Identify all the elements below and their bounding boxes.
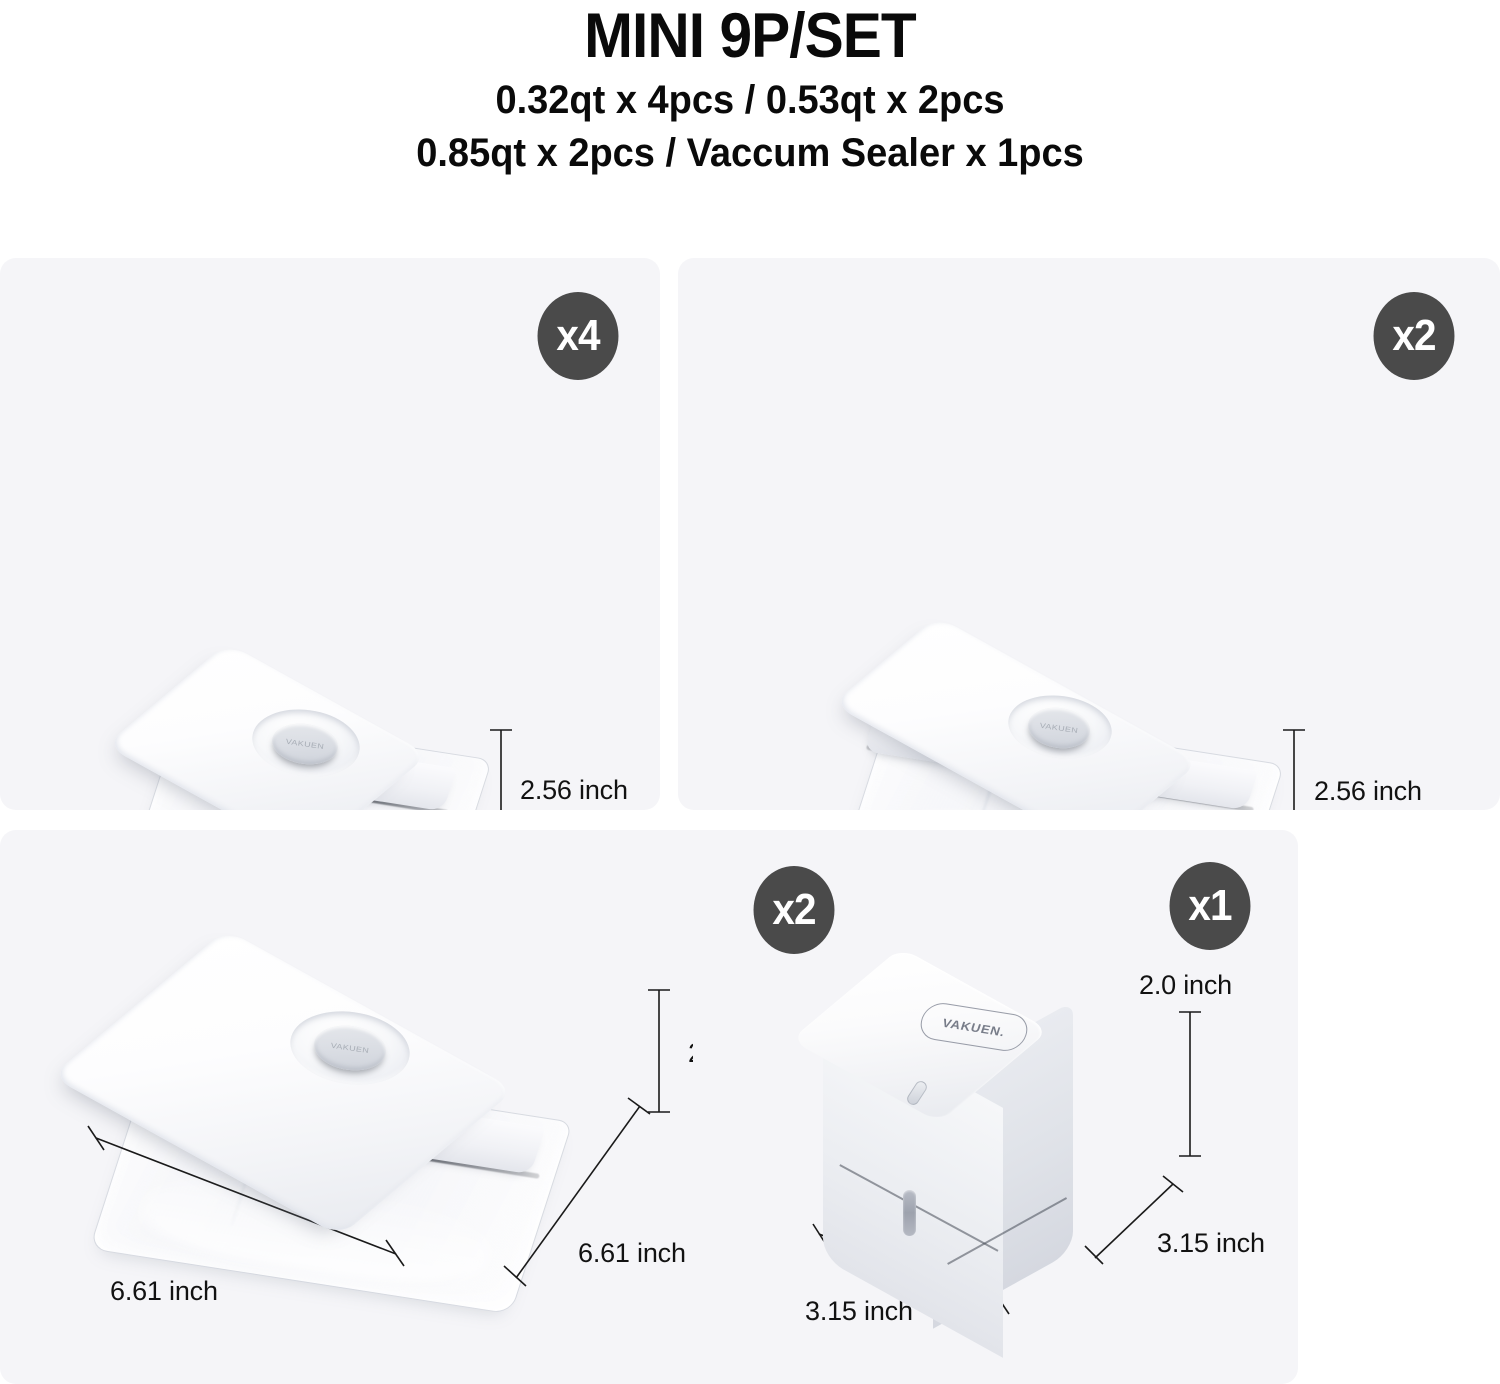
status-led-front [903,1190,916,1236]
quantity-badge-x1: x1 [1170,862,1251,950]
dimension-label-width: 6.61 inch [110,1276,218,1307]
product-panel-grid: x4 VAKUEN 2.56 inch [0,258,1500,1384]
dimension-line-height [648,988,678,1116]
dimension-line-depth [1089,1178,1185,1274]
valve-button-mark: VAKUEN [1039,721,1078,734]
quantity-badge-x2-large: x2 [754,866,835,954]
subtitle-line-2: 0.85qt x 2pcs / Vaccum Sealer x 1pcs [38,127,1463,180]
dimension-label-height: 2.0 inch [1139,970,1232,1001]
header: MINI 9P/SET 0.32qt x 4pcs / 0.53qt x 2pc… [0,0,1500,180]
dimension-label-height: 2.56 inch [1314,776,1422,807]
quantity-badge-x4: x4 [538,292,619,380]
page-title: MINI 9P/SET [53,4,1448,68]
brand-logo-text: VAKUEN. [941,1015,1008,1038]
dimension-line-height [1283,728,1313,810]
panel-small-square-container: x4 VAKUEN 2.56 inch [0,258,660,810]
panel-rectangular-container: x2 VAKUEN 2.56 inch [678,258,1500,810]
valve-button-mark: VAKUEN [285,737,324,750]
valve-button-mark: VAKUEN [330,1041,369,1054]
dimension-line-height [1179,1010,1209,1160]
dimension-label-height: 2.56 inch [520,775,628,806]
dimension-label-width: 3.15 inch [805,1296,913,1327]
dimension-label-depth: 3.15 inch [1157,1228,1265,1259]
dimension-line-height [490,728,520,810]
quantity-badge-x2-rect: x2 [1374,292,1455,380]
subtitle-line-1: 0.32qt x 4pcs / 0.53qt x 2pcs [38,74,1463,127]
dimension-label-depth: 6.61 inch [578,1238,686,1269]
